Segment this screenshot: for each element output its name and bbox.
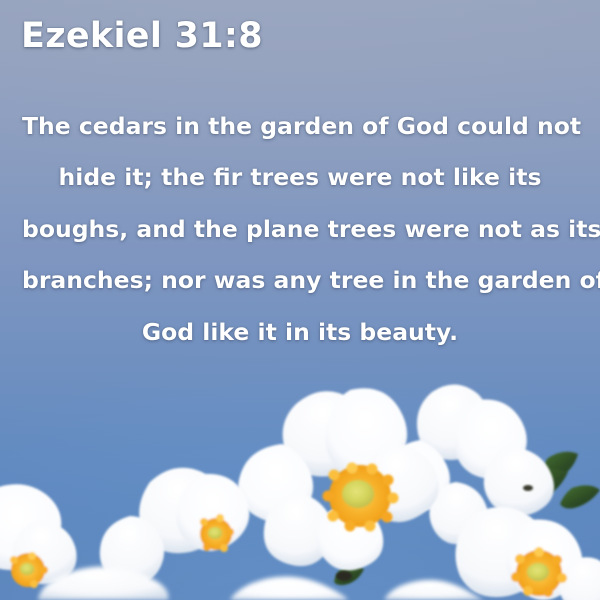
bloom-left: [100, 468, 249, 584]
bloom-left-edge: [0, 484, 77, 588]
dark-speck-2: [523, 485, 533, 491]
verse-line: branches; nor was any tree in the garden…: [22, 255, 578, 306]
verse-text-block: The cedars in the garden of God could no…: [22, 101, 578, 358]
verse-line: hide it; the fir trees were not like its: [22, 152, 578, 203]
verse-line: The cedars in the garden of God could no…: [22, 101, 578, 152]
dark-speck: [336, 571, 352, 581]
bloom-center-main: [238, 388, 439, 570]
page-title: Ezekiel 31:8: [21, 16, 263, 56]
bottom-petal-band: [38, 566, 484, 600]
bloom-center-disc: [342, 480, 374, 508]
verse-image-canvas: Ezekiel 31:8 The cedars in the garden of…: [0, 0, 600, 600]
verse-line: God like it in its beauty.: [22, 307, 578, 358]
verse-line: boughs, and the plane trees were not as …: [22, 204, 578, 255]
flower-photo-layer: [0, 370, 600, 600]
bloom-right-lower: [456, 507, 600, 600]
